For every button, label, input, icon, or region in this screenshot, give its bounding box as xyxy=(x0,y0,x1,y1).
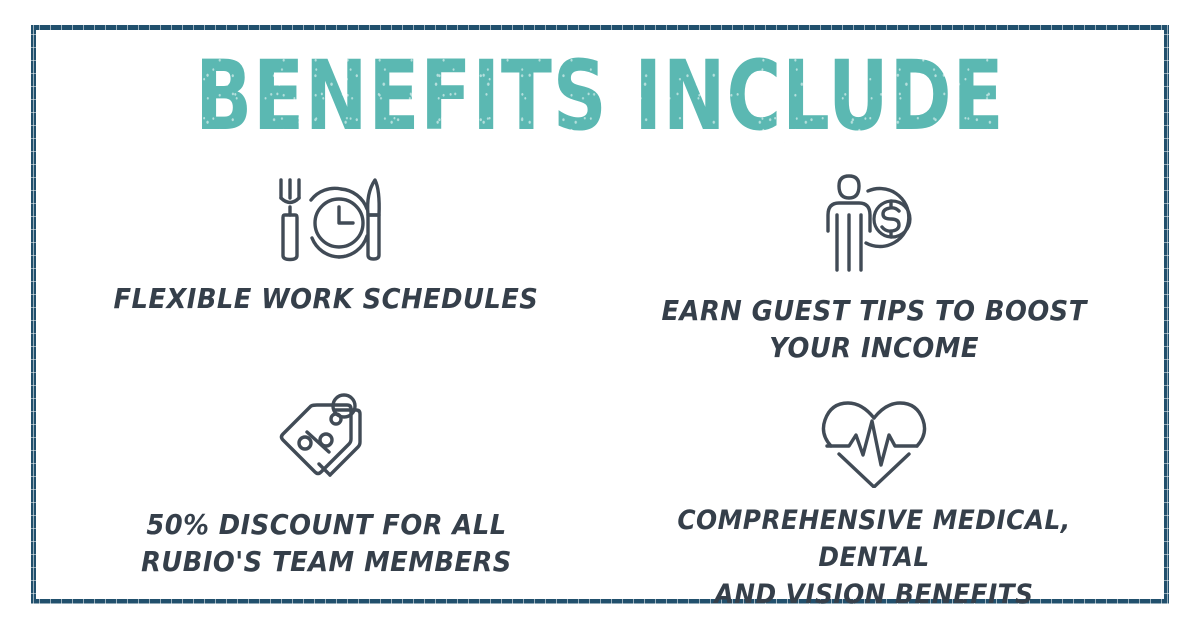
benefits-poster: BENEFITS INCLUDE xyxy=(0,0,1200,630)
benefit-label: FLEXIBLE WORK SCHEDULES xyxy=(114,280,539,317)
benefit-label: EARN GUEST TIPS TO BOOST YOUR INCOME xyxy=(661,292,1086,366)
person-dollar-icon xyxy=(818,168,930,278)
heart-pulse-icon xyxy=(819,392,929,488)
benefit-label: 50% DISCOUNT FOR ALL RUBIO'S TEAM MEMBER… xyxy=(141,506,512,580)
benefits-grid: FLEXIBLE WORK SCHEDULES xyxy=(52,168,1148,578)
benefit-item-guest-tips: EARN GUEST TIPS TO BOOST YOUR INCOME xyxy=(600,168,1148,366)
plate-clock-cutlery-icon xyxy=(267,174,385,266)
benefit-item-health-benefits: COMPREHENSIVE MEDICAL, DENTAL AND VISION… xyxy=(600,366,1148,613)
benefit-item-team-discount: 50% DISCOUNT FOR ALL RUBIO'S TEAM MEMBER… xyxy=(52,366,600,613)
page-title-container: BENEFITS INCLUDE xyxy=(0,48,1200,144)
discount-tags-icon xyxy=(272,392,380,492)
benefit-label: COMPREHENSIVE MEDICAL, DENTAL AND VISION… xyxy=(622,502,1126,613)
page-title: BENEFITS INCLUDE xyxy=(195,48,1004,144)
benefit-item-flexible-schedules: FLEXIBLE WORK SCHEDULES xyxy=(52,168,600,366)
